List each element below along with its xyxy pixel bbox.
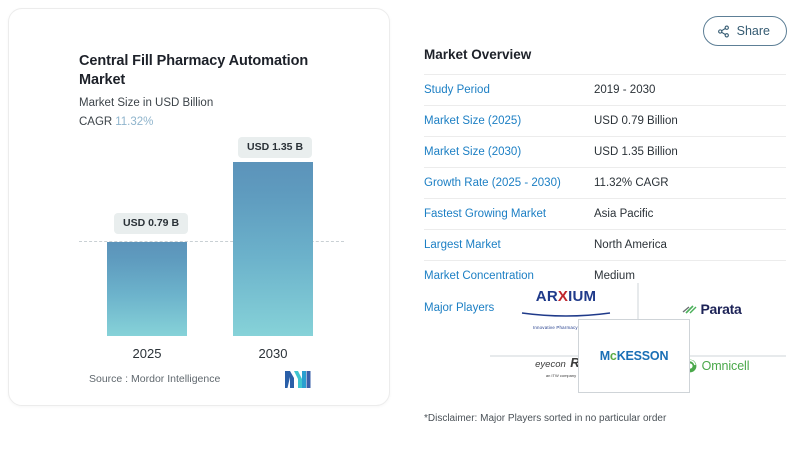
row-key: Largest Market: [424, 239, 594, 251]
row-value: 2019 - 2030: [594, 84, 655, 96]
disclaimer-text: *Disclaimer: Major Players sorted in no …: [424, 413, 666, 424]
mordor-intelligence-logo: [285, 371, 311, 393]
share-button[interactable]: Share: [703, 16, 787, 46]
table-row: Fastest Growing Market Asia Pacific: [424, 198, 786, 229]
source-text: Source : Mordor Intelligence: [89, 373, 220, 385]
mckesson-logo-text: McKESSON: [600, 349, 669, 363]
table-row: Growth Rate (2025 - 2030) 11.32% CAGR: [424, 167, 786, 198]
table-row: Study Period 2019 - 2030: [424, 74, 786, 105]
omnicell-logo-text: Omnicell: [702, 359, 750, 373]
table-row: Market Size (2030) USD 1.35 Billion: [424, 136, 786, 167]
row-value: Medium: [594, 270, 635, 282]
eyecon-logo-text: eyecon: [535, 359, 566, 370]
row-value: USD 0.79 Billion: [594, 115, 678, 127]
major-players-grid: ARXIUM Innovative Pharmacy Solutions Par…: [490, 283, 786, 393]
share-button-label: Share: [737, 24, 770, 38]
player-logo-mckesson: McKESSON: [578, 319, 690, 393]
bar-2025[interactable]: [107, 242, 187, 336]
row-value: USD 1.35 Billion: [594, 146, 678, 158]
parata-swoosh-icon: [682, 303, 698, 315]
row-key: Fastest Growing Market: [424, 208, 594, 220]
table-row: Market Size (2025) USD 0.79 Billion: [424, 105, 786, 136]
row-key: Study Period: [424, 84, 594, 96]
share-icon: [717, 25, 730, 38]
row-key: Growth Rate (2025 - 2030): [424, 177, 594, 189]
row-value: Asia Pacific: [594, 208, 653, 220]
bar-label-2025: USD 0.79 B: [114, 213, 188, 234]
x-tick-2030: 2030: [233, 346, 313, 361]
row-key: Market Size (2025): [424, 115, 594, 127]
row-key: Market Size (2030): [424, 146, 594, 158]
market-overview-panel: Market Overview Study Period 2019 - 2030…: [424, 47, 786, 314]
row-key: Market Concentration: [424, 270, 594, 282]
screenshot-root: Share Central Fill Pharmacy Automation M…: [0, 0, 800, 450]
chart-card: Central Fill Pharmacy Automation Market …: [8, 8, 390, 406]
arxium-swoosh-icon: [520, 312, 612, 317]
bar-2030[interactable]: [233, 162, 313, 336]
bar-chart-plot: USD 0.79 B USD 1.35 B 2025 2030: [9, 9, 391, 407]
table-row: Largest Market North America: [424, 229, 786, 260]
bar-label-2030: USD 1.35 B: [238, 137, 312, 158]
row-value: 11.32% CAGR: [594, 177, 669, 189]
row-value: North America: [594, 239, 667, 251]
arxium-logo-text: ARXIUM: [520, 289, 612, 304]
overview-title: Market Overview: [424, 47, 786, 62]
x-tick-2025: 2025: [107, 346, 187, 361]
parata-logo-text: Parata: [700, 301, 741, 317]
